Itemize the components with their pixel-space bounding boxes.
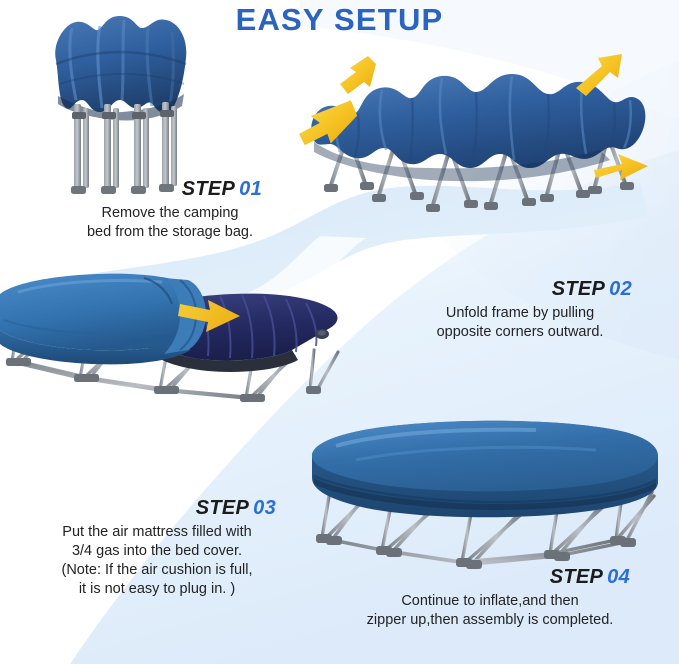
step-03-label: STEP — [196, 497, 249, 519]
step-02-number: 02 — [609, 278, 632, 300]
draped-fabric — [311, 74, 645, 181]
step-04-number: 04 — [607, 566, 630, 588]
step-01-label: STEP — [182, 178, 235, 200]
step-03-illustration — [0, 258, 352, 408]
step-02-caption: STEP02 Unfold frame by pulling opposite … — [400, 278, 640, 342]
arrow-up-left-icon — [340, 56, 376, 94]
step-03-heading: STEP03 — [12, 497, 302, 520]
step-01-number: 01 — [239, 178, 262, 200]
step-02-label: STEP — [552, 278, 605, 300]
step-01-illustration — [42, 8, 202, 206]
step-03-caption: STEP03 Put the air mattress filled with … — [12, 497, 302, 598]
step-02-text: Unfold frame by pulling opposite corners… — [400, 304, 640, 342]
step-03-text: Put the air mattress filled with 3/4 gas… — [12, 523, 302, 598]
step-01-caption: STEP01 Remove the camping bed from the s… — [72, 178, 268, 242]
step-02-heading: STEP02 — [400, 278, 640, 301]
infographic-page: EASY SETUP — [0, 0, 679, 664]
frame-feet-group — [324, 182, 634, 212]
step-04-text: Continue to inflate,and then zipper up,t… — [330, 592, 650, 630]
covered-mattress — [312, 421, 658, 518]
step-04-caption: STEP04 Continue to inflate,and then zipp… — [330, 566, 650, 630]
step-04-illustration — [296, 398, 668, 578]
step-04-heading: STEP04 — [330, 566, 650, 589]
step-01-heading: STEP01 — [72, 178, 268, 201]
step-02-illustration — [300, 48, 650, 218]
step-01-text: Remove the camping bed from the storage … — [72, 204, 268, 242]
step-03-number: 03 — [253, 497, 276, 519]
bed-cover — [0, 274, 206, 365]
step-04-label: STEP — [550, 566, 603, 588]
